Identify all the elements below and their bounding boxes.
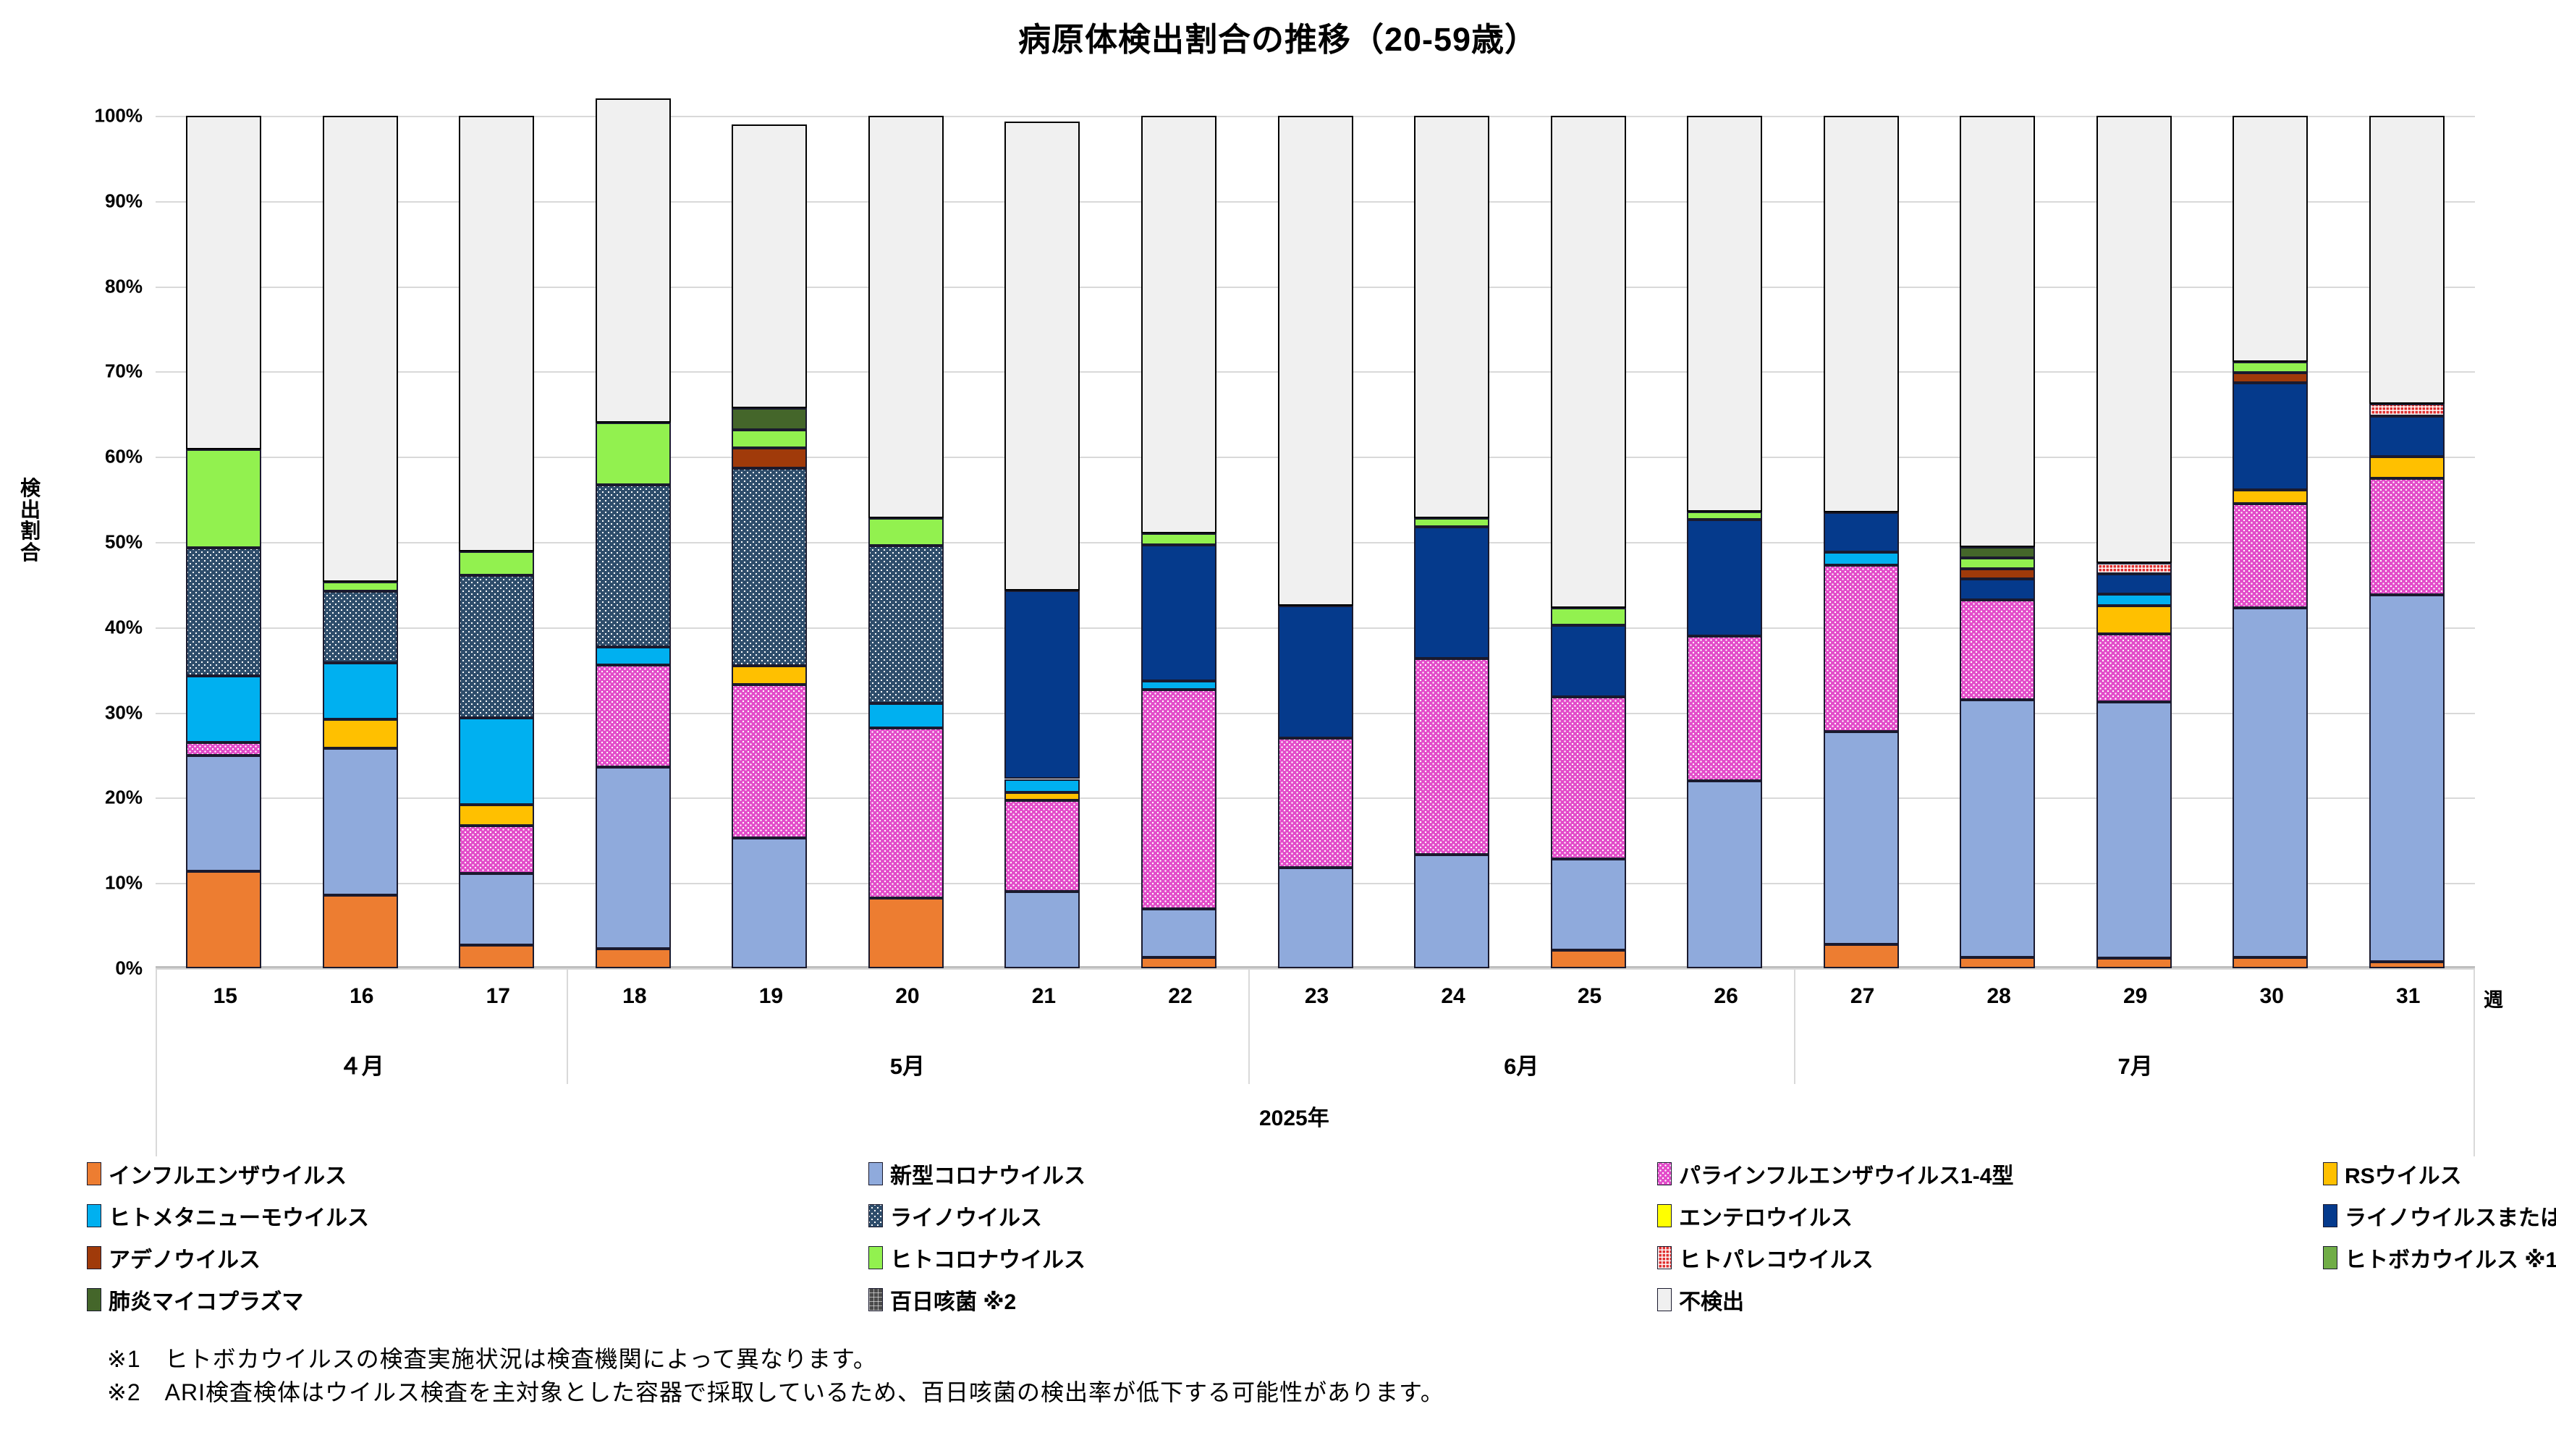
bar-segment[interactable] bbox=[323, 663, 398, 719]
legend-item-rhino_or_entero[interactable]: ライノウイルスまたはエンテロウイルス bbox=[2323, 1200, 2556, 1232]
bar-segment[interactable] bbox=[323, 591, 398, 663]
y-tick-label: 50% bbox=[105, 531, 143, 554]
legend-swatch-icon bbox=[87, 1162, 101, 1185]
bar-segment[interactable] bbox=[596, 485, 671, 647]
bar-column[interactable] bbox=[1004, 116, 1080, 968]
bar-segment[interactable] bbox=[732, 430, 807, 449]
bar-segment[interactable] bbox=[1824, 116, 1899, 512]
bar-segment[interactable] bbox=[2096, 116, 2172, 563]
bar-segment[interactable] bbox=[1414, 116, 1489, 518]
legend-item-enterovirus[interactable]: エンテロウイルス bbox=[1657, 1200, 1853, 1232]
bar-segment[interactable] bbox=[1414, 659, 1489, 855]
bar-column[interactable] bbox=[1141, 116, 1216, 968]
bar-segment[interactable] bbox=[1004, 591, 1080, 779]
y-tick-label: 20% bbox=[105, 787, 143, 809]
y-axis-title: 検出割合 bbox=[17, 478, 43, 564]
legend-item-parainfluenza[interactable]: パラインフルエンザウイルス1-4型 bbox=[1657, 1158, 2013, 1190]
bar-segment[interactable] bbox=[2096, 563, 2172, 573]
bar-segment[interactable] bbox=[1687, 512, 1762, 520]
bar-segment[interactable] bbox=[732, 666, 807, 685]
x-axis-caption: 週 bbox=[2484, 984, 2503, 1012]
week-label: 25 bbox=[1552, 984, 1628, 1009]
bar-segment[interactable] bbox=[1141, 116, 1216, 533]
bar-segment[interactable] bbox=[732, 685, 807, 838]
bar-segment[interactable] bbox=[459, 805, 534, 826]
legend-item-parechovirus[interactable]: ヒトパレコウイルス bbox=[1657, 1242, 1874, 1274]
bar-segment[interactable] bbox=[323, 582, 398, 591]
legend-swatch-icon bbox=[2323, 1204, 2337, 1227]
bar-segment[interactable] bbox=[1004, 779, 1080, 793]
month-label: 6月 bbox=[1248, 1048, 1794, 1080]
bar-segment[interactable] bbox=[1551, 625, 1626, 697]
bar-column[interactable] bbox=[596, 116, 671, 968]
week-label: 17 bbox=[460, 984, 536, 1009]
bar-segment[interactable] bbox=[868, 703, 944, 728]
bar-segment[interactable] bbox=[1687, 636, 1762, 781]
bar-segment[interactable] bbox=[1141, 957, 1216, 968]
week-label: 28 bbox=[1961, 984, 2036, 1009]
legend-label: ヒトメタニューモウイルス bbox=[109, 1200, 369, 1232]
bar-segment[interactable] bbox=[1141, 681, 1216, 690]
bar-segment[interactable] bbox=[459, 873, 534, 945]
legend-item-rhinovirus[interactable]: ライノウイルス bbox=[868, 1200, 1042, 1232]
bar-segment[interactable] bbox=[2369, 478, 2445, 595]
bar-segment[interactable] bbox=[868, 546, 944, 703]
bar-column[interactable] bbox=[1278, 116, 1353, 968]
bar-segment[interactable] bbox=[186, 742, 261, 755]
bar-segment[interactable] bbox=[186, 676, 261, 742]
legend-swatch-icon bbox=[1657, 1288, 1672, 1311]
bar-segment[interactable] bbox=[596, 423, 671, 485]
bar-segment[interactable] bbox=[1824, 565, 1899, 732]
legend-swatch-icon bbox=[87, 1288, 101, 1311]
bar-segment[interactable] bbox=[459, 826, 534, 873]
y-tick-label: 30% bbox=[105, 701, 143, 724]
legend-item-hmpv[interactable]: ヒトメタニューモウイルス bbox=[87, 1200, 369, 1232]
legend-label: 百日咳菌 ※2 bbox=[890, 1284, 1016, 1316]
legend-item-influenza[interactable]: インフルエンザウイルス bbox=[87, 1158, 347, 1190]
bar-segment[interactable] bbox=[1687, 781, 1762, 968]
week-label: 20 bbox=[870, 984, 945, 1009]
bar-column[interactable] bbox=[2369, 116, 2445, 968]
bar-segment[interactable] bbox=[732, 408, 807, 429]
month-label: 5月 bbox=[567, 1048, 1249, 1080]
legend-label: 新型コロナウイルス bbox=[890, 1158, 1086, 1190]
bar-segment[interactable] bbox=[1004, 122, 1080, 591]
legend-row: アデノウイルスヒトコロナウイルスヒトパレコウイルスヒトボカウイルス ※1 bbox=[87, 1242, 2533, 1284]
legend-label: インフルエンザウイルス bbox=[109, 1158, 347, 1190]
plot-area bbox=[156, 116, 2475, 968]
bar-segment[interactable] bbox=[323, 895, 398, 968]
bar-segment[interactable] bbox=[1551, 608, 1626, 626]
bar-segment[interactable] bbox=[1960, 600, 2035, 700]
y-tick-label: 80% bbox=[105, 275, 143, 297]
bar-segment[interactable] bbox=[186, 755, 261, 871]
legend-row: 肺炎マイコプラズマ百日咳菌 ※2不検出 bbox=[87, 1284, 2533, 1326]
bar-column[interactable] bbox=[1960, 116, 2035, 968]
bar-segment[interactable] bbox=[323, 719, 398, 748]
legend-label: ヒトボカウイルス ※1 bbox=[2345, 1242, 2556, 1274]
bar-segment[interactable] bbox=[732, 448, 807, 467]
y-axis-title-char: 検 bbox=[17, 478, 43, 499]
bar-segment[interactable] bbox=[2233, 957, 2308, 968]
legend-item-sars_cov2[interactable]: 新型コロナウイルス bbox=[868, 1158, 1086, 1190]
bar-segment[interactable] bbox=[1414, 527, 1489, 659]
year-label: 2025年 bbox=[1259, 1100, 1329, 1132]
bar-segment[interactable] bbox=[596, 647, 671, 665]
week-label: 26 bbox=[1688, 984, 1764, 1009]
legend-item-pertussis[interactable]: 百日咳菌 ※2 bbox=[868, 1284, 1016, 1316]
week-label: 24 bbox=[1415, 984, 1491, 1009]
bar-segment[interactable] bbox=[2233, 373, 2308, 383]
bar-segment[interactable] bbox=[1141, 690, 1216, 909]
legend-item-not_detected[interactable]: 不検出 bbox=[1657, 1284, 1744, 1316]
legend-label: エンテロウイルス bbox=[1679, 1200, 1853, 1232]
bar-segment[interactable] bbox=[2233, 504, 2308, 608]
y-axis-title-char: 合 bbox=[17, 542, 43, 564]
bar-segment[interactable] bbox=[1551, 859, 1626, 950]
footnote: ※1 ヒトボカウイルスの検査実施状況は検査機関によって異なります。 bbox=[107, 1342, 1444, 1376]
bar-segment[interactable] bbox=[596, 665, 671, 767]
bar-segment[interactable] bbox=[186, 548, 261, 676]
bar-segment[interactable] bbox=[1551, 116, 1626, 608]
legend-item-hcov[interactable]: ヒトコロナウイルス bbox=[868, 1242, 1086, 1274]
week-label: 18 bbox=[597, 984, 672, 1009]
bar-segment[interactable] bbox=[1824, 512, 1899, 552]
y-axis-title-char: 出 bbox=[17, 499, 43, 521]
bar-segment[interactable] bbox=[1687, 520, 1762, 635]
week-label: 19 bbox=[733, 984, 808, 1009]
bar-column[interactable] bbox=[323, 116, 398, 968]
bar-segment[interactable] bbox=[1824, 944, 1899, 968]
bar-column[interactable] bbox=[186, 116, 261, 968]
bar-segment[interactable] bbox=[596, 767, 671, 949]
bar-segment[interactable] bbox=[1960, 700, 2035, 957]
bar-segment[interactable] bbox=[868, 728, 944, 899]
bar-segment[interactable] bbox=[2233, 362, 2308, 372]
bar-segment[interactable] bbox=[323, 748, 398, 895]
legend-swatch-icon bbox=[868, 1246, 883, 1269]
bar-segment[interactable] bbox=[1824, 732, 1899, 945]
month-label: 7月 bbox=[1794, 1048, 2476, 1080]
bar-segment[interactable] bbox=[1960, 957, 2035, 968]
bar-segment[interactable] bbox=[2233, 608, 2308, 957]
y-tick-label: 0% bbox=[115, 957, 143, 980]
legend-swatch-icon bbox=[868, 1162, 883, 1185]
legend-swatch-icon bbox=[868, 1204, 883, 1227]
bar-segment[interactable] bbox=[732, 124, 807, 408]
bar-segment[interactable] bbox=[1551, 950, 1626, 968]
bar-segment[interactable] bbox=[2233, 490, 2308, 504]
legend-swatch-icon bbox=[1657, 1162, 1672, 1185]
bar-segment[interactable] bbox=[2096, 594, 2172, 606]
bar-column[interactable] bbox=[732, 116, 807, 968]
bar-column[interactable] bbox=[1824, 116, 1899, 968]
bar-segment[interactable] bbox=[1414, 855, 1489, 968]
bar-segment[interactable] bbox=[1141, 545, 1216, 681]
bar-segment[interactable] bbox=[2369, 457, 2445, 478]
legend-swatch-icon bbox=[2323, 1246, 2337, 1269]
bar-segment[interactable] bbox=[2369, 962, 2445, 968]
footnote: ※2 ARI検査検体はウイルス検査を主対象とした容器で採取しているため、百日咳菌… bbox=[107, 1376, 1444, 1409]
legend-label: ライノウイルスまたはエンテロウイルス bbox=[2345, 1200, 2556, 1232]
bar-segment[interactable] bbox=[1278, 116, 1353, 606]
legend-label: アデノウイルス bbox=[109, 1242, 261, 1274]
week-label: 29 bbox=[2098, 984, 2173, 1009]
footnotes: ※1 ヒトボカウイルスの検査実施状況は検査機関によって異なります。※2 ARI検… bbox=[107, 1342, 1444, 1410]
legend-label: 肺炎マイコプラズマ bbox=[109, 1284, 303, 1316]
bar-segment[interactable] bbox=[2096, 606, 2172, 634]
bar-segment[interactable] bbox=[2233, 383, 2308, 490]
bar-segment[interactable] bbox=[2096, 702, 2172, 957]
bar-segment[interactable] bbox=[2096, 958, 2172, 968]
bar-segment[interactable] bbox=[868, 116, 944, 518]
legend-label: RSウイルス bbox=[2345, 1158, 2462, 1190]
bar-segment[interactable] bbox=[1960, 547, 2035, 558]
legend-swatch-icon bbox=[87, 1246, 101, 1269]
legend-label: 不検出 bbox=[1679, 1284, 1744, 1316]
bar-segment[interactable] bbox=[2369, 404, 2445, 415]
bar-column[interactable] bbox=[459, 116, 534, 968]
week-label: 23 bbox=[1279, 984, 1355, 1009]
bar-segment[interactable] bbox=[1960, 558, 2035, 568]
legend-swatch-icon bbox=[868, 1288, 883, 1311]
bar-segment[interactable] bbox=[596, 949, 671, 968]
legend-label: ヒトコロナウイルス bbox=[890, 1242, 1086, 1274]
y-tick-label: 60% bbox=[105, 446, 143, 468]
month-label: ４月 bbox=[157, 1048, 567, 1080]
legend-row: インフルエンザウイルス新型コロナウイルスパラインフルエンザウイルス1-4型RSウ… bbox=[87, 1158, 2533, 1200]
legend-item-adenovirus[interactable]: アデノウイルス bbox=[87, 1242, 261, 1274]
y-tick-label: 70% bbox=[105, 360, 143, 383]
bar-segment[interactable] bbox=[1960, 569, 2035, 579]
legend-swatch-icon bbox=[1657, 1204, 1672, 1227]
bar-segment[interactable] bbox=[186, 449, 261, 549]
legend-item-mycoplasma[interactable]: 肺炎マイコプラズマ bbox=[87, 1284, 303, 1316]
legend-label: ヒトパレコウイルス bbox=[1679, 1242, 1874, 1274]
bar-segment[interactable] bbox=[868, 518, 944, 546]
bar-segment[interactable] bbox=[1278, 606, 1353, 738]
legend-swatch-icon bbox=[2323, 1162, 2337, 1185]
legend: インフルエンザウイルス新型コロナウイルスパラインフルエンザウイルス1-4型RSウ… bbox=[87, 1158, 2533, 1326]
week-label: 31 bbox=[2371, 984, 2446, 1009]
y-tick-label: 100% bbox=[95, 105, 143, 127]
week-label: 16 bbox=[324, 984, 399, 1009]
week-label: 27 bbox=[1825, 984, 1900, 1009]
bar-segment[interactable] bbox=[1824, 552, 1899, 565]
bar-segment[interactable] bbox=[459, 945, 534, 968]
legend-item-rsv[interactable]: RSウイルス bbox=[2323, 1158, 2462, 1190]
bar-segment[interactable] bbox=[1960, 116, 2035, 547]
y-tick-label: 10% bbox=[105, 872, 143, 894]
legend-label: ライノウイルス bbox=[890, 1200, 1042, 1232]
bar-column[interactable] bbox=[868, 116, 944, 968]
legend-label: パラインフルエンザウイルス1-4型 bbox=[1679, 1158, 2013, 1190]
bar-segment[interactable] bbox=[1960, 579, 2035, 600]
legend-swatch-icon bbox=[87, 1204, 101, 1227]
bar-segment[interactable] bbox=[1004, 792, 1080, 800]
bar-segment[interactable] bbox=[323, 116, 398, 582]
bar-segment[interactable] bbox=[1278, 738, 1353, 868]
bar-segment[interactable] bbox=[1551, 697, 1626, 859]
week-label: 15 bbox=[187, 984, 263, 1009]
bar-segment[interactable] bbox=[1141, 533, 1216, 544]
page-title: 病原体検出割合の推移（20-59歳） bbox=[0, 13, 2556, 60]
week-label: 22 bbox=[1143, 984, 1218, 1009]
y-tick-label: 40% bbox=[105, 616, 143, 638]
bar-segment[interactable] bbox=[2369, 116, 2445, 404]
bar-segment[interactable] bbox=[186, 871, 261, 968]
bar-segment[interactable] bbox=[2096, 574, 2172, 594]
bar-segment[interactable] bbox=[459, 718, 534, 805]
bar-segment[interactable] bbox=[1141, 909, 1216, 957]
week-label: 30 bbox=[2234, 984, 2309, 1009]
bar-column[interactable] bbox=[1414, 116, 1489, 968]
bar-column[interactable] bbox=[1687, 116, 1762, 968]
bar-segment[interactable] bbox=[732, 468, 807, 666]
bar-column[interactable] bbox=[2096, 116, 2172, 968]
y-axis-title-char: 割 bbox=[17, 520, 43, 542]
legend-row: ヒトメタニューモウイルスライノウイルスエンテロウイルスライノウイルスまたはエンテ… bbox=[87, 1200, 2533, 1242]
legend-item-bocavirus[interactable]: ヒトボカウイルス ※1 bbox=[2323, 1242, 2556, 1274]
bar-segment[interactable] bbox=[2233, 116, 2308, 362]
bar-segment[interactable] bbox=[868, 898, 944, 968]
bar-segment[interactable] bbox=[2369, 595, 2445, 962]
week-label: 21 bbox=[1006, 984, 1081, 1009]
bar-column[interactable] bbox=[1551, 116, 1626, 968]
bar-segment[interactable] bbox=[596, 98, 671, 423]
bar-segment[interactable] bbox=[1004, 800, 1080, 892]
bar-segment[interactable] bbox=[459, 551, 534, 575]
bar-column[interactable] bbox=[2233, 116, 2308, 968]
bar-segment[interactable] bbox=[1004, 892, 1080, 968]
bar-segment[interactable] bbox=[1687, 116, 1762, 512]
bar-segment[interactable] bbox=[459, 116, 534, 551]
bar-segment[interactable] bbox=[732, 838, 807, 968]
bar-segment[interactable] bbox=[459, 575, 534, 718]
bar-segment[interactable] bbox=[2096, 634, 2172, 702]
y-tick-label: 90% bbox=[105, 190, 143, 212]
bar-segment[interactable] bbox=[1278, 868, 1353, 968]
bar-segment[interactable] bbox=[2369, 416, 2445, 457]
legend-swatch-icon bbox=[1657, 1246, 1672, 1269]
bar-segment[interactable] bbox=[1414, 518, 1489, 527]
bar-segment[interactable] bbox=[186, 116, 261, 449]
